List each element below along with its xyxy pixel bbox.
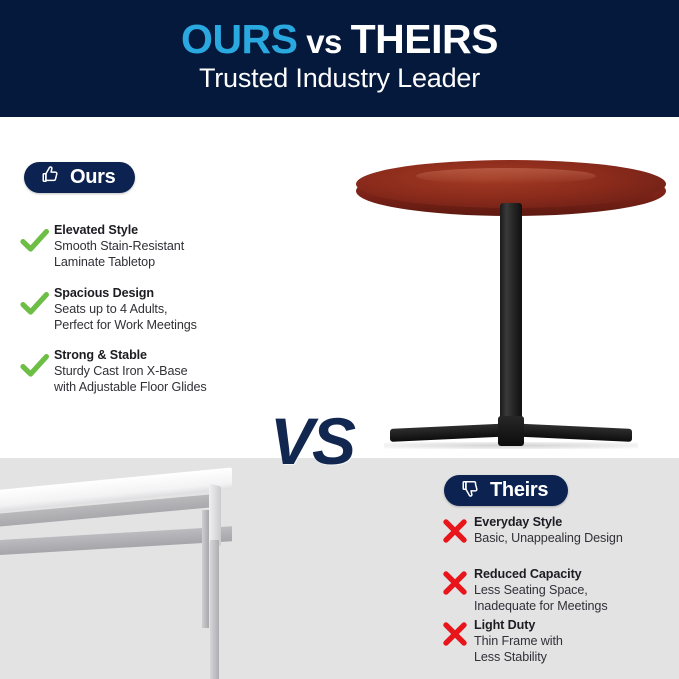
ours-feature-line2-3: with Adjustable Floor Glides (54, 379, 207, 395)
title-ours-word: OURS (181, 16, 297, 62)
table-base-hub (498, 416, 524, 446)
vs-divider-label: VS (270, 406, 354, 476)
ours-feature-title-2: Spacious Design (54, 285, 197, 301)
check-icon (16, 222, 54, 254)
ours-feature-line2-1: Laminate Tabletop (54, 254, 184, 270)
ours-feature-text-3: Strong & Stable Sturdy Cast Iron X-Base … (54, 347, 207, 395)
ours-feature-line2-2: Perfect for Work Meetings (54, 317, 197, 333)
ours-feature-item-2: Spacious Design Seats up to 4 Adults, Pe… (16, 285, 197, 333)
ours-feature-text-2: Spacious Design Seats up to 4 Adults, Pe… (54, 285, 197, 333)
cross-icon (436, 514, 474, 544)
theirs-feature-title-1: Everyday Style (474, 514, 623, 530)
cross-icon (436, 566, 474, 596)
cross-icon (436, 617, 474, 647)
competitor-leg-near (210, 540, 219, 679)
theirs-feature-line1-2: Less Seating Space, (474, 582, 608, 598)
ours-feature-text-1: Elevated Style Smooth Stain-Resistant La… (54, 222, 184, 270)
thumbs-down-icon (460, 478, 481, 503)
theirs-product-image (0, 474, 260, 679)
theirs-feature-line2-3: Less Stability (474, 649, 563, 665)
theirs-feature-line1-3: Thin Frame with (474, 633, 563, 649)
ours-feature-title-3: Strong & Stable (54, 347, 207, 363)
table-base-right-leg (507, 423, 632, 442)
theirs-badge-label: Theirs (490, 475, 548, 506)
title-vs-word: vs (298, 23, 351, 60)
ours-feature-line1-3: Sturdy Cast Iron X-Base (54, 363, 207, 379)
ours-feature-line1-2: Seats up to 4 Adults, (54, 301, 197, 317)
ours-feature-item-1: Elevated Style Smooth Stain-Resistant La… (16, 222, 184, 270)
header-banner: OURS vs THEIRS Trusted Industry Leader (0, 0, 679, 117)
tabletop-highlight (416, 168, 596, 184)
comparison-infographic: OURS vs THEIRS Trusted Industry Leader (0, 0, 679, 679)
ours-badge: Ours (24, 162, 135, 193)
theirs-feature-title-2: Reduced Capacity (474, 566, 608, 582)
theirs-feature-line2-2: Inadequate for Meetings (474, 598, 608, 614)
table-base-left-leg (390, 423, 515, 442)
theirs-feature-item-1: Everyday Style Basic, Unappealing Design (436, 514, 623, 546)
ours-feature-title-1: Elevated Style (54, 222, 184, 238)
theirs-feature-title-3: Light Duty (474, 617, 563, 633)
theirs-badge: Theirs (444, 475, 568, 506)
theirs-feature-text-3: Light Duty Thin Frame with Less Stabilit… (474, 617, 563, 665)
check-icon (16, 285, 54, 317)
ours-badge-label: Ours (70, 162, 115, 193)
theirs-feature-item-2: Reduced Capacity Less Seating Space, Ina… (436, 566, 608, 614)
theirs-feature-item-3: Light Duty Thin Frame with Less Stabilit… (436, 617, 563, 665)
check-icon (16, 347, 54, 379)
thumbs-up-icon (40, 165, 61, 190)
title-theirs-word: THEIRS (351, 16, 498, 62)
page-subtitle: Trusted Industry Leader (0, 62, 679, 94)
ours-product-image (340, 158, 679, 458)
theirs-feature-text-1: Everyday Style Basic, Unappealing Design (474, 514, 623, 546)
page-title: OURS vs THEIRS (0, 16, 679, 65)
ours-feature-item-3: Strong & Stable Sturdy Cast Iron X-Base … (16, 347, 207, 395)
theirs-feature-line1-1: Basic, Unappealing Design (474, 530, 623, 546)
theirs-feature-text-2: Reduced Capacity Less Seating Space, Ina… (474, 566, 608, 614)
ours-feature-line1-1: Smooth Stain-Resistant (54, 238, 184, 254)
competitor-leg-far (202, 510, 209, 628)
table-column (500, 203, 522, 443)
competitor-table-right-edge (209, 484, 221, 547)
tabletop-surface (356, 160, 666, 208)
